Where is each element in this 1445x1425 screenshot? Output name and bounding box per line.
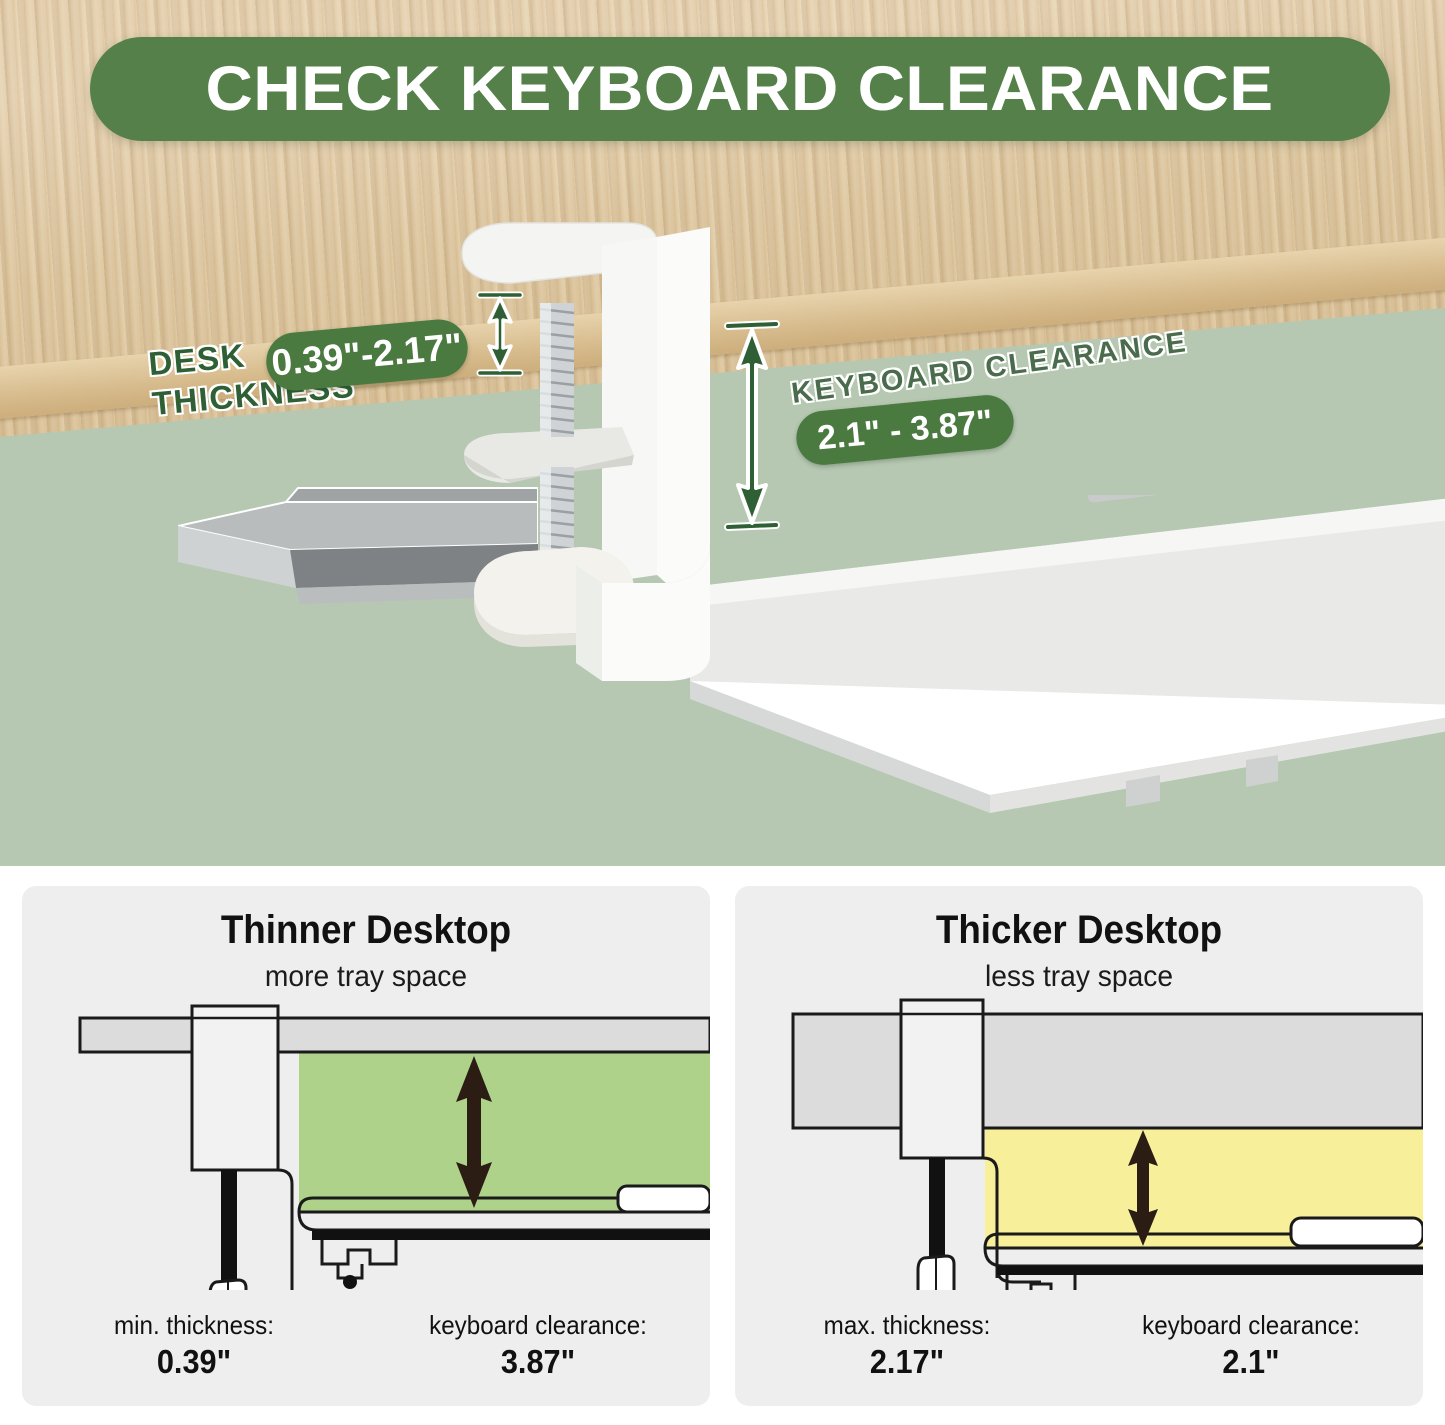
keyboard-tray [690,495,1445,825]
desk-thickness-arrow [474,288,526,380]
header-banner: CHECK KEYBOARD CLEARANCE [90,37,1390,141]
footer-clearance-value: 3.87" [378,1341,698,1384]
panel-subtitle: less tray space [756,960,1403,994]
footer-thickness-value: 0.39" [34,1341,354,1384]
panel-thinner-desktop: Thinner Desktop more tray space [22,886,710,1406]
desk-clamp [452,215,722,685]
footer-thickness: max. thickness: 2.17" [735,1309,1079,1384]
footer-thickness-value: 2.17" [747,1341,1067,1384]
panel-thicker-desktop: Thicker Desktop less tray space [735,886,1423,1406]
keyboard-clearance-arrow [722,318,782,534]
footer-thickness-label: max. thickness: [747,1309,1067,1342]
panel-title: Thinner Desktop [50,908,683,953]
comparison-panels: Thinner Desktop more tray space [0,886,1445,1425]
footer-thickness: min. thickness: 0.39" [22,1309,366,1384]
panel-subtitle: more tray space [43,960,690,994]
thicker-desktop-diagram [735,990,1423,1290]
panel-footer: min. thickness: 0.39" keyboard clearance… [22,1309,710,1384]
panel-title: Thicker Desktop [763,908,1396,953]
footer-clearance: keyboard clearance: 3.87" [366,1309,710,1384]
footer-clearance-label: keyboard clearance: [1091,1309,1411,1342]
footer-clearance: keyboard clearance: 2.1" [1079,1309,1423,1384]
footer-thickness-label: min. thickness: [34,1309,354,1342]
thinner-desktop-diagram [22,990,710,1290]
infographic-root: CHECK KEYBOARD CLEARANCE DESK THICKNESS … [0,0,1445,1425]
footer-clearance-value: 2.1" [1091,1341,1411,1384]
hero-illustration: CHECK KEYBOARD CLEARANCE DESK THICKNESS … [0,0,1445,866]
footer-clearance-label: keyboard clearance: [378,1309,698,1342]
panel-footer: max. thickness: 2.17" keyboard clearance… [735,1309,1423,1384]
page-title: CHECK KEYBOARD CLEARANCE [206,58,1274,121]
